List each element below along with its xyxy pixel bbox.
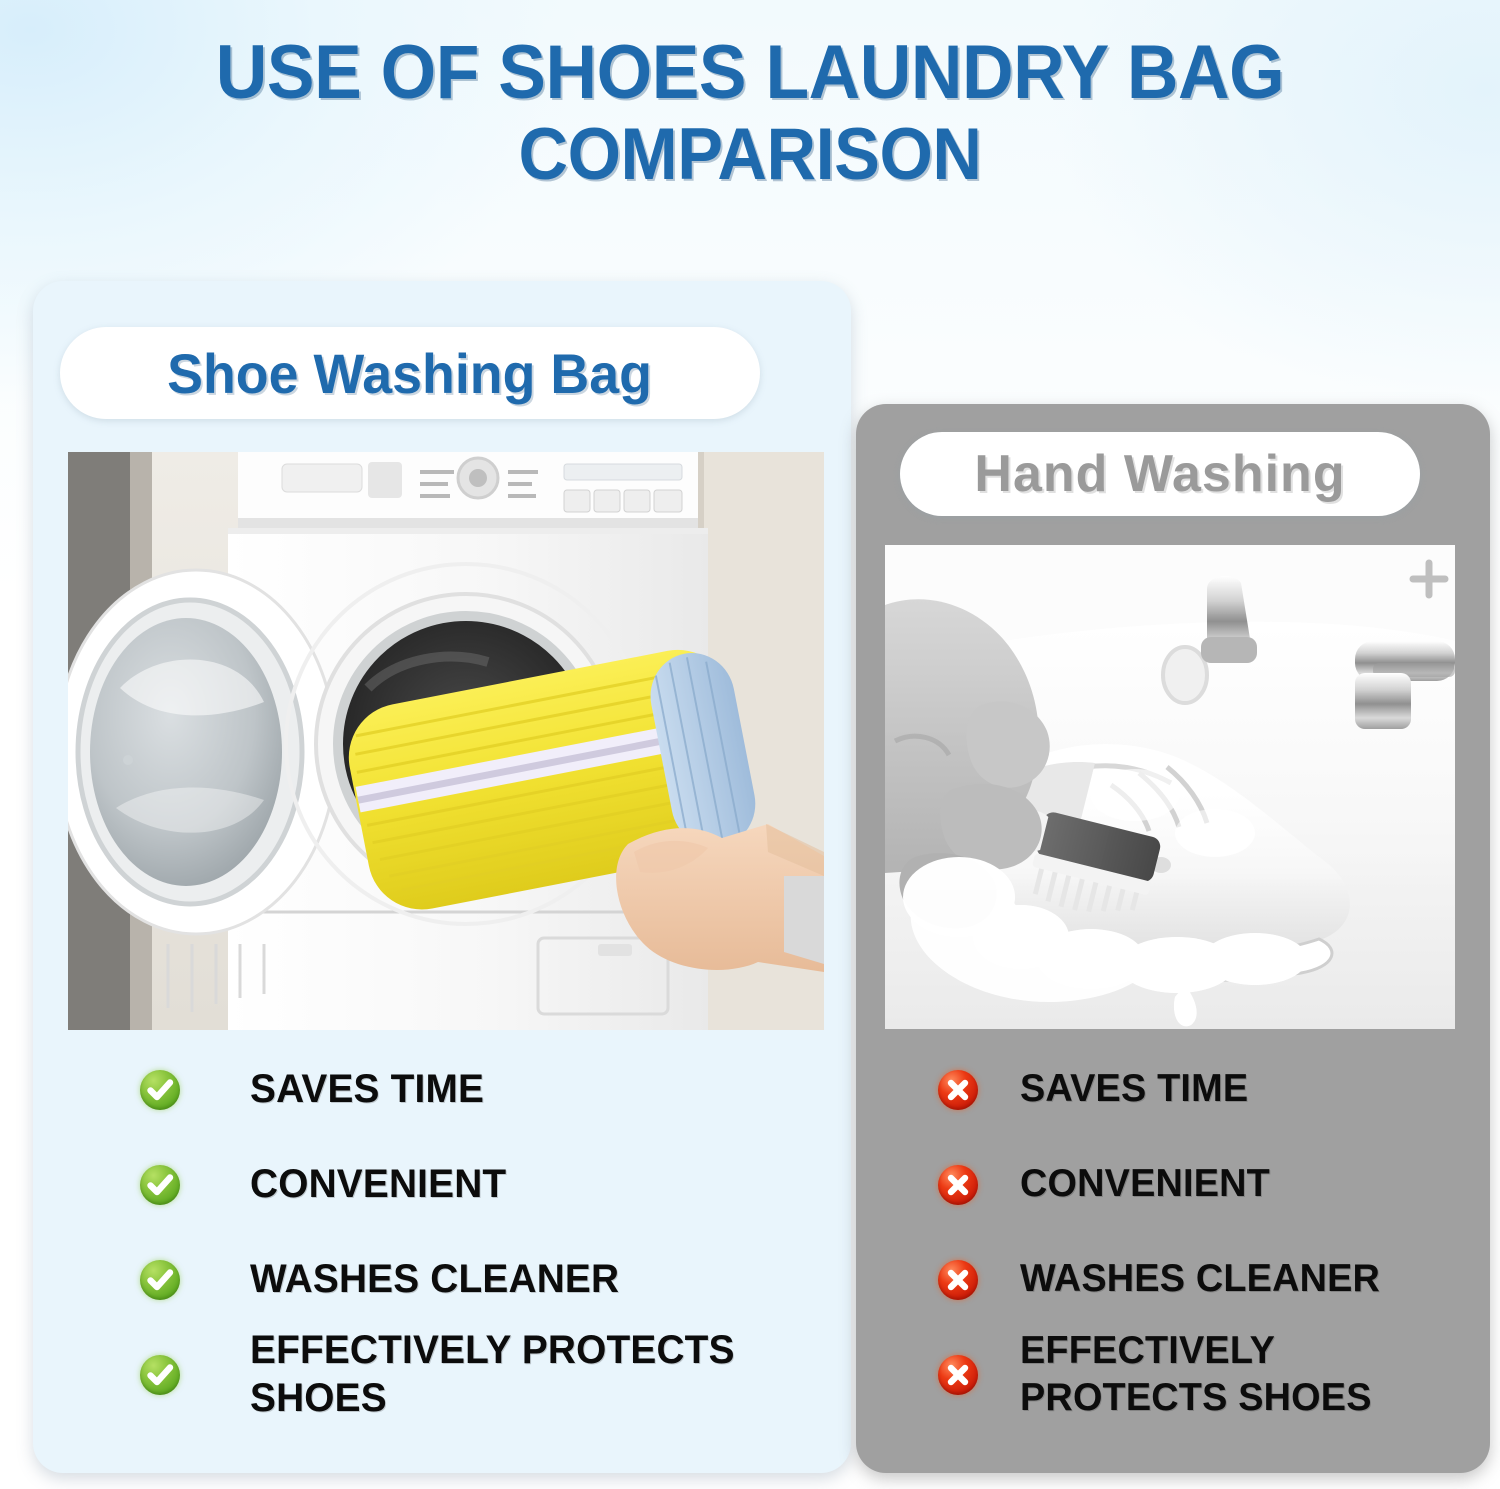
page-title-line-1: USE OF SHOES LAUNDRY BAG bbox=[45, 34, 1455, 112]
cross-icon bbox=[938, 1355, 978, 1395]
feature-row: CONVENIENT bbox=[938, 1137, 1478, 1232]
feature-row: EFFECTIVELY PROTECTS SHOES bbox=[938, 1327, 1478, 1422]
photo-washing-machine-illustration bbox=[68, 452, 824, 1030]
feature-row: SAVES TIME bbox=[140, 1042, 830, 1137]
check-icon bbox=[140, 1165, 180, 1205]
page-title-line-2: COMPARISON bbox=[45, 118, 1455, 192]
cross-icon bbox=[938, 1070, 978, 1110]
cross-icon bbox=[938, 1260, 978, 1300]
check-icon bbox=[140, 1355, 180, 1395]
feature-row: WASHES CLEANER bbox=[140, 1232, 830, 1327]
feature-label: EFFECTIVELY PROTECTS SHOES bbox=[250, 1327, 793, 1421]
feature-label: WASHES CLEANER bbox=[1020, 1256, 1380, 1302]
photo-hand-washing-illustration bbox=[885, 545, 1455, 1029]
feature-label: CONVENIENT bbox=[1020, 1161, 1270, 1207]
heading-pill-hand-washing: Hand Washing bbox=[900, 432, 1420, 516]
heading-pill-shoe-washing-bag: Shoe Washing Bag bbox=[60, 327, 760, 419]
feature-label: EFFECTIVELY PROTECTS SHOES bbox=[1020, 1328, 1427, 1420]
feature-label: CONVENIENT bbox=[250, 1161, 506, 1208]
feature-row: CONVENIENT bbox=[140, 1137, 830, 1232]
cross-icon bbox=[938, 1165, 978, 1205]
page-title: USE OF SHOES LAUNDRY BAG COMPARISON bbox=[0, 34, 1500, 192]
feature-list-hand-washing: SAVES TIME CONVENIENT WASHES CLEANER EFF… bbox=[938, 1042, 1478, 1422]
photo-washing-machine-with-bag bbox=[68, 452, 824, 1030]
heading-label-hand-washing: Hand Washing bbox=[974, 444, 1345, 504]
feature-list-shoe-washing-bag: SAVES TIME CONVENIENT WASHES CLEANER EFF… bbox=[140, 1042, 830, 1422]
feature-row: SAVES TIME bbox=[938, 1042, 1478, 1137]
feature-label: WASHES CLEANER bbox=[250, 1256, 619, 1303]
check-icon bbox=[140, 1260, 180, 1300]
heading-label-shoe-washing-bag: Shoe Washing Bag bbox=[168, 341, 653, 406]
feature-row: WASHES CLEANER bbox=[938, 1232, 1478, 1327]
feature-label: SAVES TIME bbox=[1020, 1066, 1248, 1112]
feature-label: SAVES TIME bbox=[250, 1066, 484, 1113]
photo-hand-scrubbing-sneaker bbox=[885, 545, 1455, 1029]
check-icon bbox=[140, 1070, 180, 1110]
feature-row: EFFECTIVELY PROTECTS SHOES bbox=[140, 1327, 830, 1422]
